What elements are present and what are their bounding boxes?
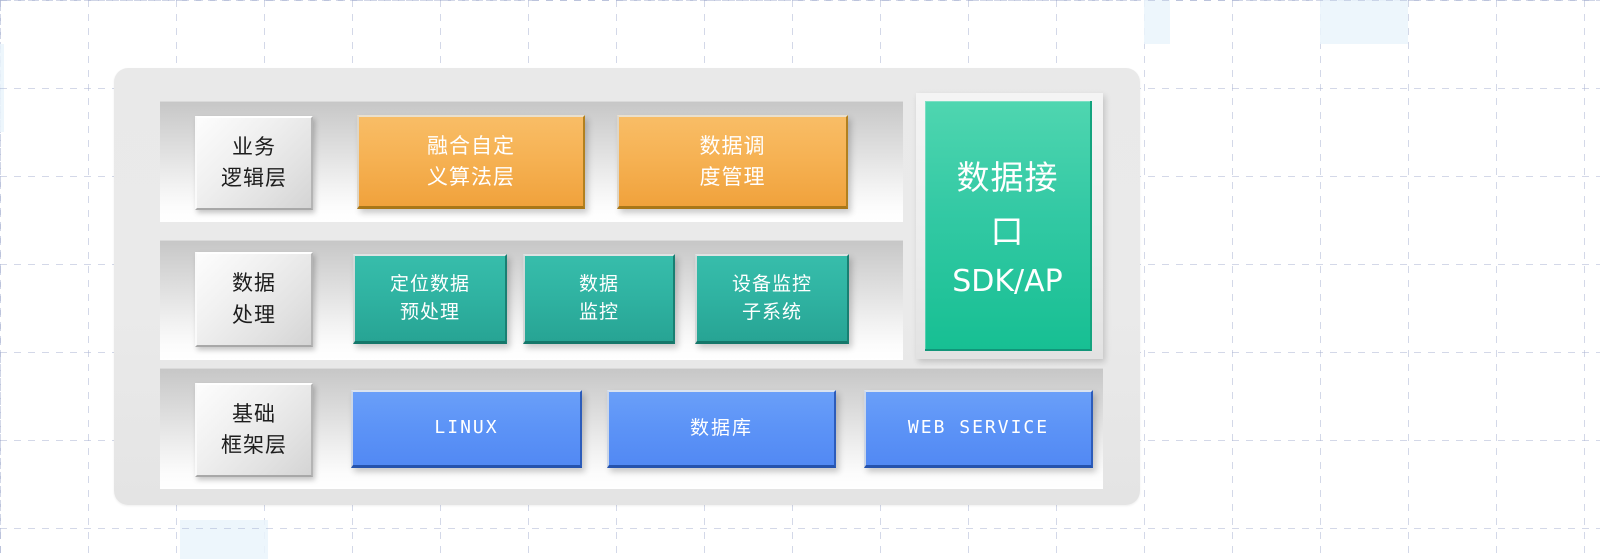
module-web-service[interactable]: WEB SERVICE — [864, 390, 1093, 468]
module-data-dispatch-line2: 度管理 — [700, 162, 766, 192]
layer-label-infrastructure-line1: 基础 — [232, 399, 276, 431]
grid-tint-cell-b — [1144, 0, 1170, 44]
layer-label-data-processing[interactable]: 数据 处理 — [195, 252, 313, 347]
module-data-monitor[interactable]: 数据 监控 — [523, 254, 675, 344]
grid-tint-cell-c — [180, 520, 268, 559]
module-location-preprocess[interactable]: 定位数据 预处理 — [353, 254, 507, 344]
module-linux[interactable]: LINUX — [351, 390, 582, 468]
module-data-monitor-line1: 数据 — [579, 271, 619, 299]
module-fusion-algorithm-line1: 融合自定 — [427, 131, 515, 161]
layer-label-business-line1: 业务 — [232, 132, 276, 164]
module-fusion-algorithm-line2: 义算法层 — [427, 162, 515, 192]
module-database[interactable]: 数据库 — [607, 390, 836, 468]
layer-label-business[interactable]: 业务 逻辑层 — [195, 116, 313, 210]
module-device-monitor[interactable]: 设备监控 子系统 — [695, 254, 849, 344]
module-device-monitor-line1: 设备监控 — [732, 271, 812, 299]
data-interface-sdk-label: SDK/AP — [952, 264, 1063, 299]
module-location-preprocess-line2: 预处理 — [400, 299, 460, 327]
module-location-preprocess-line1: 定位数据 — [390, 271, 470, 299]
data-interface-line2: 口 — [991, 205, 1025, 258]
grid-tint-cell-d — [0, 44, 4, 132]
grid-tint-cell-a — [1320, 0, 1408, 44]
layer-label-data-processing-line1: 数据 — [232, 268, 276, 300]
module-data-dispatch-line1: 数据调 — [700, 131, 766, 161]
layer-label-business-line2: 逻辑层 — [221, 163, 287, 195]
module-data-monitor-line2: 监控 — [579, 299, 619, 327]
data-interface-line1: 数据接 — [957, 151, 1059, 204]
layer-label-infrastructure-line2: 框架层 — [221, 430, 287, 462]
module-data-dispatch[interactable]: 数据调 度管理 — [617, 115, 848, 209]
module-device-monitor-line2: 子系统 — [742, 299, 802, 327]
layer-label-infrastructure[interactable]: 基础 框架层 — [195, 383, 313, 477]
module-web-service-label: WEB SERVICE — [908, 415, 1049, 441]
module-fusion-algorithm[interactable]: 融合自定 义算法层 — [357, 115, 585, 209]
layer-label-data-processing-line2: 处理 — [232, 300, 276, 332]
module-database-label: 数据库 — [690, 415, 753, 443]
data-interface-panel[interactable]: 数据接 口 SDK/AP — [925, 101, 1092, 351]
module-linux-label: LINUX — [434, 415, 498, 441]
